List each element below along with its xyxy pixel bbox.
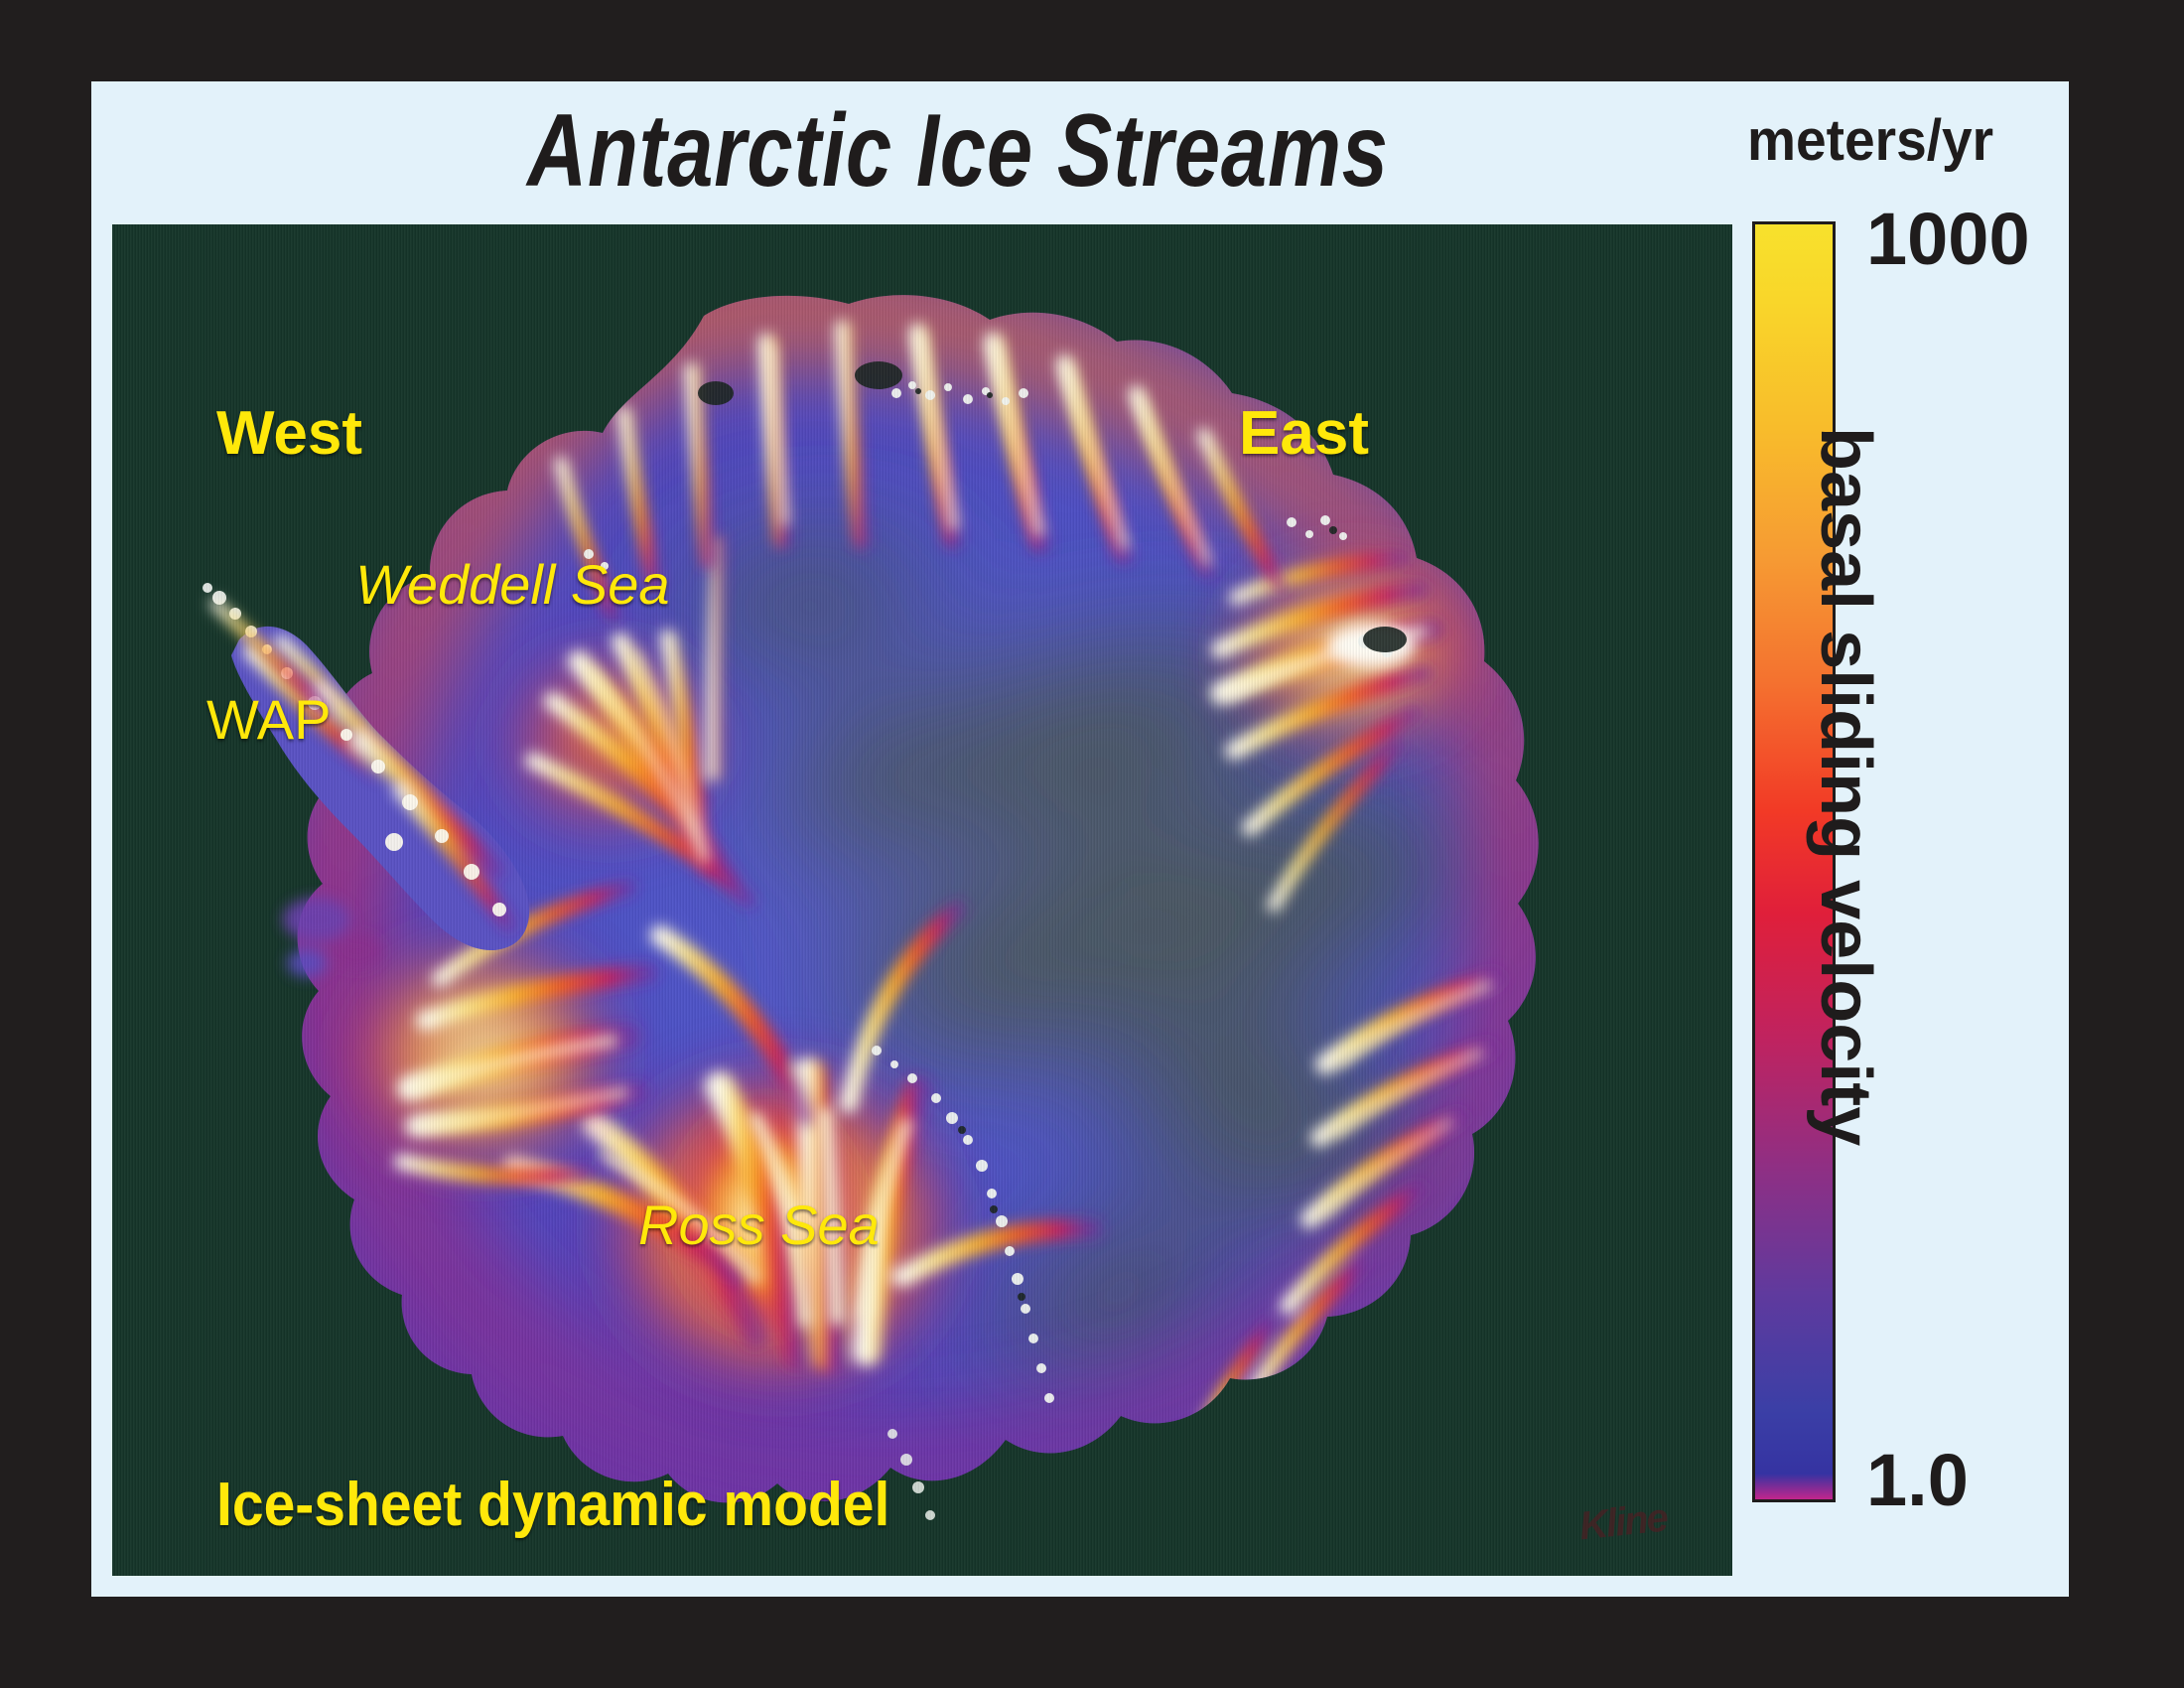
colorbar-axis-label: basal sliding velocity — [1805, 427, 1886, 1241]
figure-root: Antarctic Ice Streams meters/yr — [0, 0, 2184, 1688]
map-label-wap: WAP — [206, 687, 331, 752]
colorbar-min-label: 1.0 — [1866, 1438, 1969, 1522]
figure-caption: Ice-sheet dynamic model — [216, 1470, 889, 1540]
author-signature: Kline — [1577, 1496, 1669, 1550]
antarctica-velocity-map: West East WAP Weddell Sea Ross Sea Ice-s… — [112, 224, 1732, 1576]
map-label-east: East — [1239, 398, 1369, 469]
map-label-ross-sea: Ross Sea — [638, 1193, 880, 1257]
page-title: Antarctic Ice Streams — [390, 91, 1526, 211]
map-label-west: West — [216, 398, 362, 469]
colorbar-max-label: 1000 — [1866, 197, 2030, 281]
map-label-weddell-sea: Weddell Sea — [355, 552, 670, 617]
colorbar-units-label: meters/yr — [1747, 107, 1993, 174]
